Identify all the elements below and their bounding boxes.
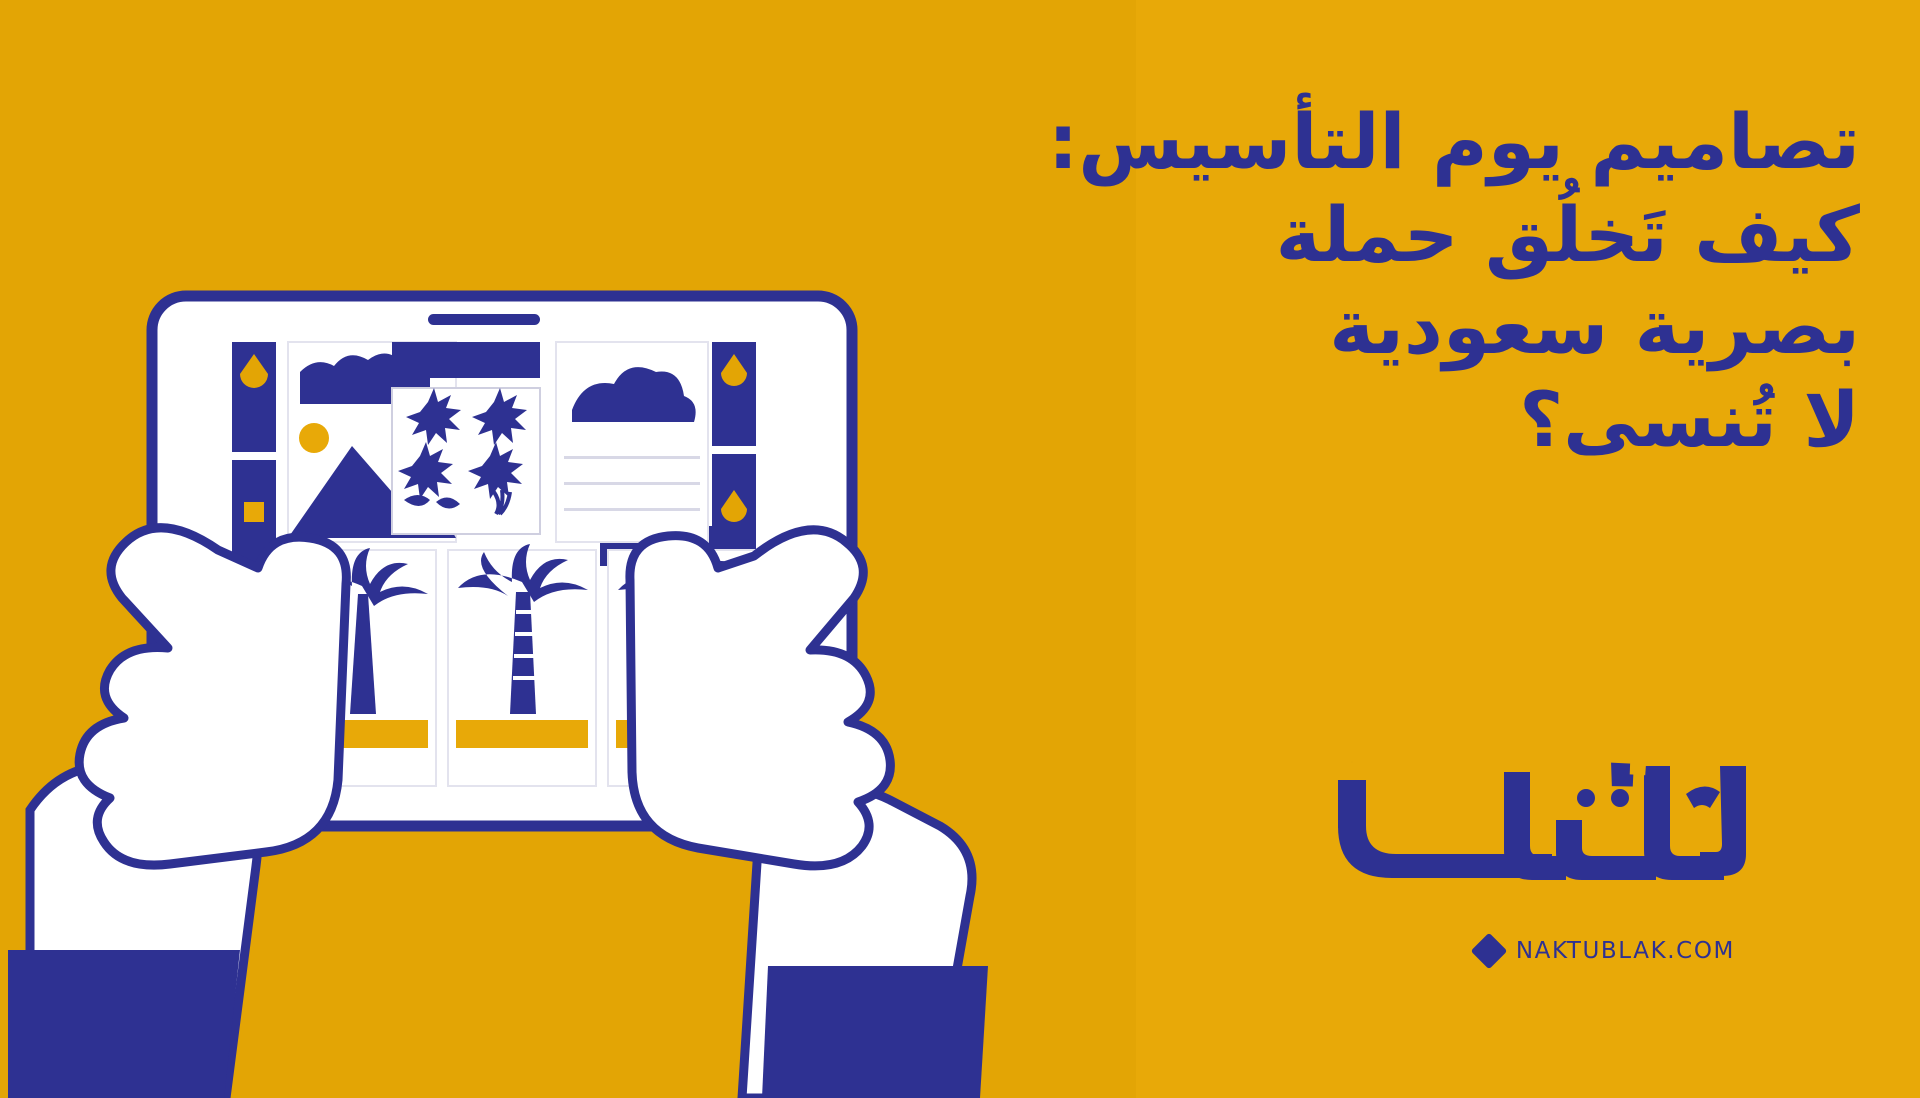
site-url-label: NAKTUBLAK.COM — [1516, 938, 1735, 964]
sand-bar-icon — [456, 720, 588, 748]
headline-line-1: تصاميم يوم التأسيس: — [860, 96, 1860, 189]
naktublak-logo[interactable] — [1290, 760, 1750, 900]
site-url-row[interactable]: NAKTUBLAK.COM — [1476, 938, 1735, 964]
page-title: تصاميم يوم التأسيس: كيف تَخلُق حملة بصري… — [860, 96, 1860, 467]
tile-ink-splats — [392, 342, 540, 534]
text-line-icon — [564, 482, 700, 485]
diamond-icon — [1470, 933, 1507, 970]
headline-line-4: لا تُنسى؟ — [860, 374, 1860, 467]
text-line-icon — [564, 508, 700, 511]
sun-icon — [299, 423, 329, 453]
headline-line-3: بصرية سعودية — [860, 281, 1860, 374]
tablet-speaker — [428, 314, 540, 325]
logo-wordmark-glyphs — [1338, 760, 1746, 880]
tile-palm-center — [448, 544, 596, 786]
poster-canvas: تصاميم يوم التأسيس: كيف تَخلُق حملة بصري… — [0, 0, 1920, 1098]
text-line-icon — [564, 456, 700, 459]
tile-cloud-card — [556, 342, 708, 542]
headline-line-2: كيف تَخلُق حملة — [860, 189, 1860, 282]
hands-holding-tablet-illustration — [0, 250, 1000, 1098]
